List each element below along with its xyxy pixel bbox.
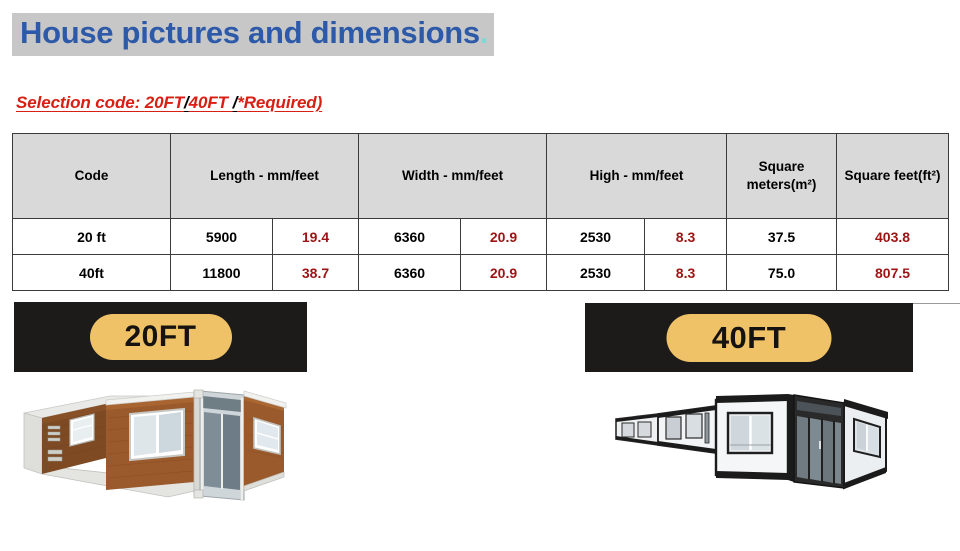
badge-pill-40ft: 40FT	[667, 314, 832, 362]
cell-width-mm: 6360	[359, 219, 461, 255]
badge-bar-20ft: 20FT	[14, 302, 307, 372]
divider-line	[913, 303, 960, 304]
page-title: House pictures and dimensions.	[12, 13, 494, 56]
house-image-40ft	[598, 383, 898, 513]
cell-square-feet: 807.5	[837, 255, 949, 291]
cell-code: 40ft	[13, 255, 171, 291]
selection-code-option-20ft[interactable]: 20FT	[145, 93, 184, 112]
selection-code-option-40ft[interactable]: 40FT	[189, 93, 233, 112]
cell-square-feet: 403.8	[837, 219, 949, 255]
cell-high-feet: 8.3	[645, 219, 727, 255]
cell-high-feet: 8.3	[645, 255, 727, 291]
cell-length-feet: 19.4	[273, 219, 359, 255]
table-row: 40ft 11800 38.7 6360 20.9 2530 8.3 75.0 …	[13, 255, 949, 291]
cell-square-meters: 75.0	[727, 255, 837, 291]
page-title-period: .	[480, 15, 488, 50]
selection-code-line: Selection code: 20FT/40FT /*Required)	[16, 93, 322, 113]
cell-square-meters: 37.5	[727, 219, 837, 255]
cell-width-feet: 20.9	[461, 219, 547, 255]
cell-width-mm: 6360	[359, 255, 461, 291]
column-header-width: Width - mm/feet	[359, 134, 547, 219]
page-title-text: House pictures and dimensions.	[12, 13, 494, 56]
page-title-label: House pictures and dimensions	[20, 15, 480, 50]
table-header-row: Code Length - mm/feet Width - mm/feet Hi…	[13, 134, 949, 219]
table-body: 20 ft 5900 19.4 6360 20.9 2530 8.3 37.5 …	[13, 219, 949, 291]
cell-length-mm: 5900	[171, 219, 273, 255]
cell-high-mm: 2530	[547, 255, 645, 291]
selection-code-label: Selection code:	[16, 93, 145, 112]
photo-block-20ft: 20FT	[14, 302, 307, 372]
dimensions-table: Code Length - mm/feet Width - mm/feet Hi…	[12, 133, 949, 291]
selection-code-required-note: *Required)	[237, 93, 322, 112]
cell-code: 20 ft	[13, 219, 171, 255]
cell-width-feet: 20.9	[461, 255, 547, 291]
photo-block-40ft: 40FT	[585, 303, 913, 372]
house-image-20ft	[18, 378, 290, 518]
column-header-length: Length - mm/feet	[171, 134, 359, 219]
cell-length-feet: 38.7	[273, 255, 359, 291]
badge-bar-40ft: 40FT	[585, 303, 913, 372]
cell-length-mm: 11800	[171, 255, 273, 291]
column-header-code: Code	[13, 134, 171, 219]
column-header-square-feet: Square feet(ft²)	[837, 134, 949, 219]
column-header-square-meters: Square meters(m²)	[727, 134, 837, 219]
badge-pill-20ft: 20FT	[90, 314, 232, 360]
cell-high-mm: 2530	[547, 219, 645, 255]
column-header-high: High - mm/feet	[547, 134, 727, 219]
table-header: Code Length - mm/feet Width - mm/feet Hi…	[13, 134, 949, 219]
table-row: 20 ft 5900 19.4 6360 20.9 2530 8.3 37.5 …	[13, 219, 949, 255]
